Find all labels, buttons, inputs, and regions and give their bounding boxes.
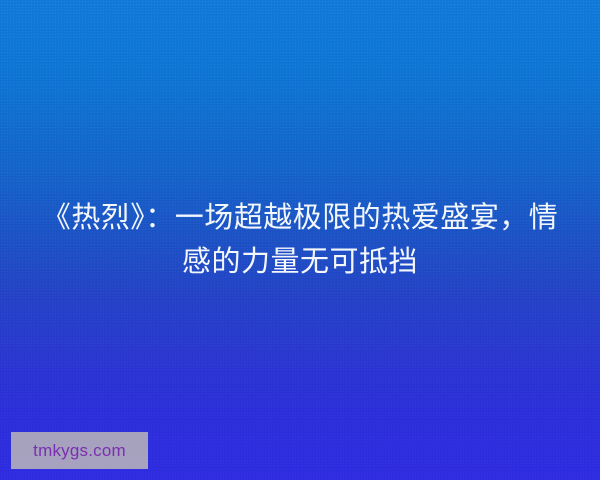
image-canvas: 《热烈》：一场超越极限的热爱盛宴，情感的力量无可抵挡 tmkygs.com: [0, 0, 600, 480]
watermark-badge: tmkygs.com: [11, 432, 148, 469]
watermark-label: tmkygs.com: [33, 442, 126, 459]
headline-title: 《热烈》：一场超越极限的热爱盛宴，情感的力量无可抵挡: [30, 196, 570, 284]
